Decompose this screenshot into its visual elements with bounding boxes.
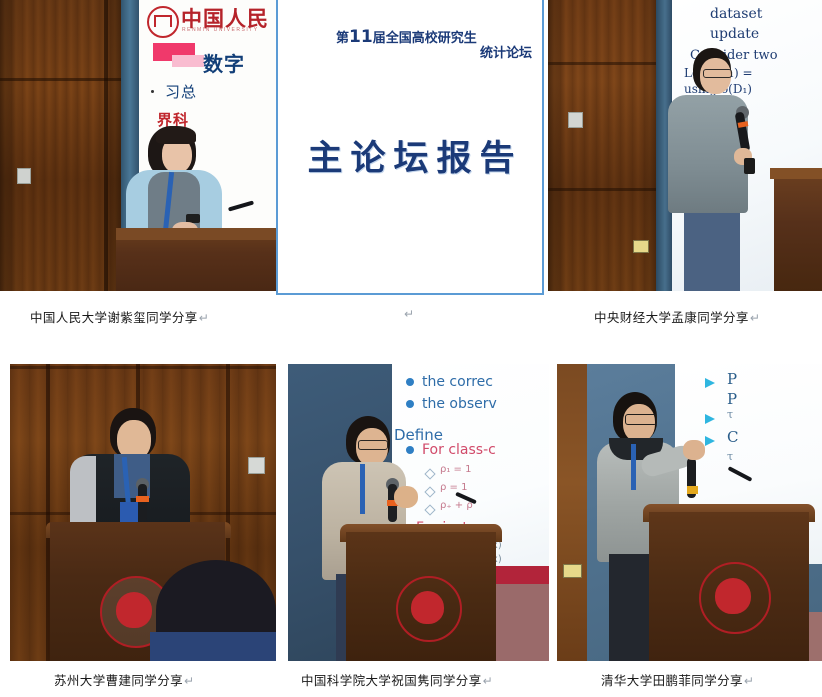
slide-line-2: the observ bbox=[422, 396, 497, 412]
caption-text: 中央财经大学孟康同学分享 bbox=[594, 311, 749, 325]
slide-bullet-1 bbox=[406, 378, 414, 386]
slide-main-title: 主论坛报告 bbox=[302, 130, 528, 181]
paragraph-mark-icon: ↵ bbox=[404, 307, 414, 321]
slide-line-1: dataset bbox=[710, 6, 762, 22]
slide-sub-bullet-3 bbox=[424, 504, 435, 515]
caption-text: 苏州大学曹建同学分享 bbox=[54, 674, 183, 688]
microphone-band bbox=[687, 486, 698, 494]
caption-photo-tsinghua: 清华大学田鹏菲同学分享↵ bbox=[601, 670, 754, 689]
slide-line-5: τ bbox=[727, 450, 733, 463]
photo-ruc[interactable]: 中国人民 RENMIN UNIVERSITY 数字 习总 界科 占未 数字 rk… bbox=[0, 0, 278, 291]
speaker-glasses bbox=[703, 69, 732, 78]
slide-line-3: τ bbox=[727, 408, 733, 421]
speaker-hand bbox=[394, 486, 418, 508]
slide-header-prefix: 第 bbox=[336, 31, 349, 46]
slide-math-1: ρ₁ = 1 bbox=[440, 464, 471, 475]
photo-forum-slide[interactable]: 第11届全国高校研究生 统计论坛 主论坛报告 bbox=[278, 0, 542, 293]
caption-photo-suda: 苏州大学曹建同学分享↵ bbox=[54, 670, 194, 689]
wall-sign bbox=[563, 564, 582, 578]
wood-wall bbox=[557, 364, 587, 661]
wall-switch bbox=[568, 112, 583, 128]
slide-arrow-3 bbox=[705, 436, 715, 446]
paragraph-mark-icon: ↵ bbox=[744, 674, 754, 688]
slide-line-1: the correc bbox=[422, 374, 493, 390]
photo-tsinghua[interactable]: P P τ C τ bbox=[557, 364, 822, 661]
slide-accent-box-light bbox=[172, 55, 204, 67]
presenter-clicker bbox=[744, 158, 755, 174]
slide-line-2: P bbox=[727, 390, 737, 408]
slide-title-text: 数字 bbox=[203, 48, 245, 77]
microphone bbox=[138, 484, 147, 522]
slide-header-line1: 届全国高校研究生 bbox=[373, 31, 477, 46]
podium-top bbox=[770, 168, 822, 179]
slide-bullet-3 bbox=[406, 446, 414, 454]
wall-switch bbox=[17, 168, 31, 184]
ruc-brand-en-text: RENMIN UNIVERSITY bbox=[182, 27, 259, 33]
slide-header-line2: 统计论坛 bbox=[336, 46, 536, 61]
speaker-lanyard bbox=[631, 444, 636, 490]
wood-wall bbox=[0, 0, 121, 291]
speaker-lanyard bbox=[360, 464, 365, 514]
caption-text: 清华大学田鹏菲同学分享 bbox=[601, 674, 743, 688]
ruc-logo-icon bbox=[147, 6, 179, 38]
slide-line-1: P bbox=[727, 370, 737, 388]
speaker-legs bbox=[684, 208, 740, 291]
paragraph-mark-icon: ↵ bbox=[483, 674, 493, 688]
slide-sub-bullet-1 bbox=[424, 468, 435, 479]
paragraph-mark-icon: ↵ bbox=[750, 311, 760, 325]
caption-photo-ucas: 中国科学院大学祝国隽同学分享↵ bbox=[301, 670, 493, 689]
wall-line-top bbox=[10, 366, 276, 369]
university-emblem-icon bbox=[699, 562, 771, 634]
paragraph-mark-icon: ↵ bbox=[199, 311, 209, 325]
caption-text: 中国科学院大学祝国隽同学分享 bbox=[301, 674, 482, 688]
speaker-badge bbox=[120, 502, 138, 524]
slide-line-4: For class-c bbox=[422, 442, 496, 458]
caption-text: 中国人民大学谢紫玺同学分享 bbox=[30, 311, 198, 325]
slide-sub-bullet-2 bbox=[424, 486, 435, 497]
caption-photo-cufe: 中央财经大学孟康同学分享↵ bbox=[594, 307, 760, 326]
slide-bullet bbox=[151, 90, 154, 93]
slide-math-2: ρ = 1 bbox=[440, 482, 467, 493]
document-page: 中国人民 RENMIN UNIVERSITY 数字 习总 界科 占未 数字 rk… bbox=[0, 0, 822, 697]
photo-suda[interactable] bbox=[10, 364, 276, 661]
slide-header: 第11届全国高校研究生 统计论坛 bbox=[336, 30, 536, 61]
slide-math-3: ρ₊ + ρ bbox=[440, 500, 473, 511]
slide-line-1: 习总 bbox=[165, 81, 197, 102]
slide-bullet-2 bbox=[406, 400, 414, 408]
slide-line-4: C bbox=[727, 428, 738, 446]
university-emblem-icon bbox=[396, 576, 462, 642]
slide-header-number: 11 bbox=[349, 27, 373, 47]
photo-cufe[interactable]: dataset update Consider two Let δ(D₁) = … bbox=[548, 0, 822, 291]
podium-top bbox=[116, 228, 278, 240]
speaker-hand bbox=[683, 440, 705, 460]
microphone-band bbox=[136, 496, 149, 502]
photo-ucas[interactable]: the correc the observ Define For class-c… bbox=[288, 364, 549, 661]
speaker-fringe bbox=[156, 126, 196, 144]
speaker-glasses bbox=[625, 414, 657, 425]
audience-member-shoulders bbox=[150, 632, 276, 661]
wall-seam bbox=[104, 0, 108, 291]
podium bbox=[774, 168, 822, 291]
speaker-glasses bbox=[358, 440, 388, 450]
slide-line-2: update bbox=[710, 26, 759, 42]
slide-canvas: 第11届全国高校研究生 统计论坛 主论坛报告 bbox=[280, 2, 540, 291]
slide-arrow-2 bbox=[705, 414, 715, 424]
wall-switch bbox=[248, 457, 265, 474]
wall-sign bbox=[633, 240, 649, 253]
slide-arrow-1 bbox=[705, 378, 715, 388]
paragraph-mark-icon: ↵ bbox=[184, 674, 194, 688]
caption-photo-ruc: 中国人民大学谢紫玺同学分享↵ bbox=[30, 307, 209, 326]
